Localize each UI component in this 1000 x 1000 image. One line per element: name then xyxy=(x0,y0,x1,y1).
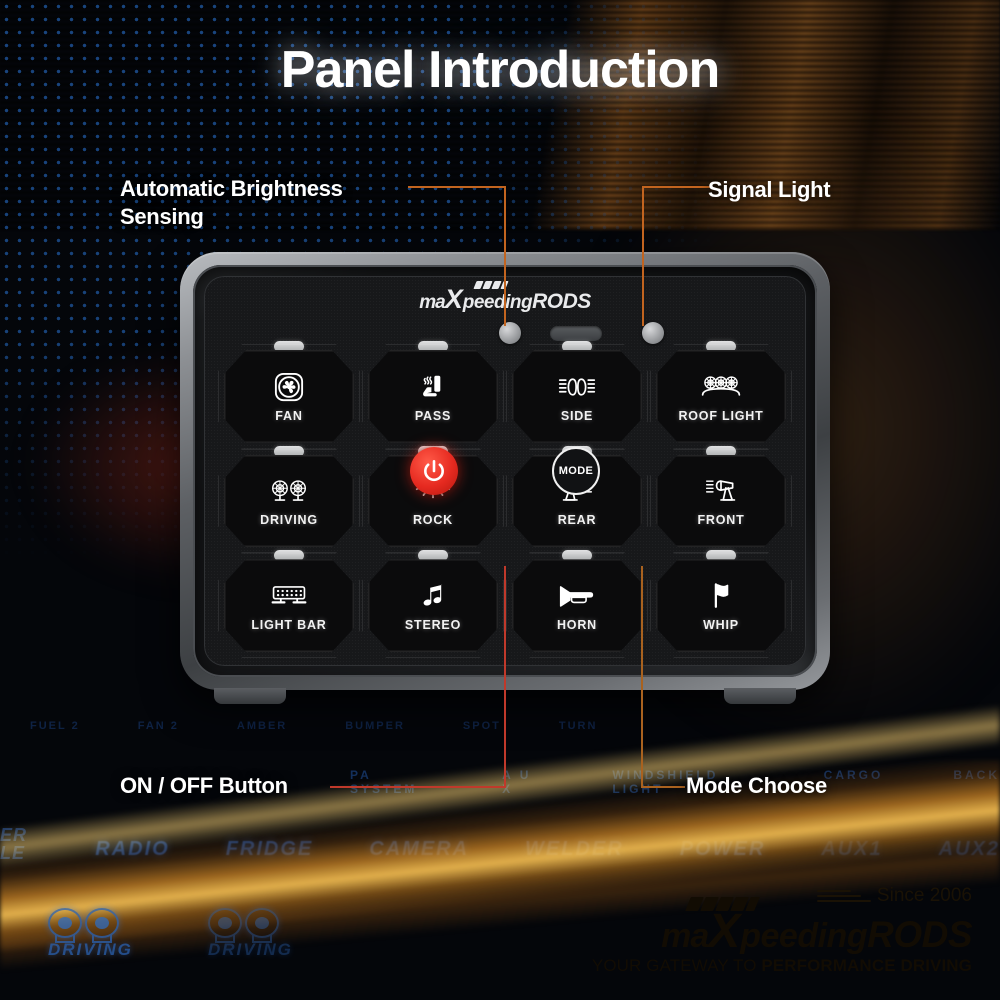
callout-brightness-sensing: Automatic Brightness Sensing xyxy=(120,175,420,231)
tagline-plain: YOUR GATEWAY TO xyxy=(592,956,761,975)
logo-part-peeding: peeding xyxy=(740,917,867,955)
switch-button-fan[interactable]: FAN xyxy=(224,350,354,443)
panel-mount-right xyxy=(724,688,796,704)
footer-brand: Since 2006 maXpeedingRODS YOUR GATEWAY T… xyxy=(592,885,972,976)
panel-mount-left xyxy=(214,688,286,704)
light-bar-icon xyxy=(269,579,309,613)
mode-button-label: MODE xyxy=(559,465,594,477)
footer-tagline: YOUR GATEWAY TO PERFORMANCE DRIVING xyxy=(592,956,972,976)
panel-cell: PASS xyxy=(368,350,498,443)
logo-part-rods: RODS xyxy=(867,914,972,955)
panel-cell: HORN xyxy=(512,559,642,652)
button-label: REAR xyxy=(558,513,597,527)
panel-cell: ROOF LIGHT xyxy=(656,350,786,443)
leader-line-signal xyxy=(640,186,710,326)
switch-button-front[interactable]: FRONT xyxy=(656,455,786,548)
callout-line: Automatic Brightness xyxy=(120,175,420,203)
button-label: FAN xyxy=(275,409,302,423)
background-driving-icon-2: DRIVING xyxy=(208,908,293,960)
button-label: WHIP xyxy=(703,618,739,632)
fan-icon xyxy=(274,370,304,404)
maxpeedingrods-logo-footer: maXpeedingRODS xyxy=(592,908,972,956)
panel-cell: FAN xyxy=(224,350,354,443)
leader-line-brightness xyxy=(408,186,508,326)
callout-line: Sensing xyxy=(120,203,420,231)
panel-cell: DRIVING xyxy=(224,455,354,548)
panel-cell: SIDE xyxy=(512,350,642,443)
background-word: DRIVING xyxy=(208,940,293,960)
since-text: Since 2006 xyxy=(877,885,972,907)
switch-button-pass[interactable]: PASS xyxy=(368,350,498,443)
background-driving-icon-1: DRIVING xyxy=(48,908,133,960)
mode-button[interactable]: MODE xyxy=(552,447,600,495)
background-word: DRIVING xyxy=(48,940,133,960)
since-badge: Since 2006 xyxy=(592,885,972,907)
power-button[interactable] xyxy=(410,447,458,495)
switch-button-horn[interactable]: HORN xyxy=(512,559,642,652)
roof-light-bar-icon xyxy=(700,370,742,404)
button-label: FRONT xyxy=(697,513,744,527)
horn-icon xyxy=(557,579,597,613)
button-label: HORN xyxy=(557,618,597,632)
button-label: ROCK xyxy=(413,513,453,527)
switch-button-roof-light[interactable]: ROOF LIGHT xyxy=(656,350,786,443)
logo-part-rods: RODS xyxy=(532,290,591,313)
ir-receiver xyxy=(550,326,602,341)
driving-lamps-icon xyxy=(48,908,133,938)
callout-mode-choose: Mode Choose xyxy=(686,772,827,800)
button-label: ROOF LIGHT xyxy=(678,409,763,423)
leader-line-mode xyxy=(641,566,685,788)
driving-lamps-icon xyxy=(270,474,308,508)
logo-part-x: X xyxy=(708,905,740,958)
button-label: DRIVING xyxy=(260,513,318,527)
button-label: SIDE xyxy=(561,409,593,423)
callout-on-off-button: ON / OFF Button xyxy=(120,772,288,800)
front-work-light-icon xyxy=(704,474,738,508)
button-label: PASS xyxy=(415,409,451,423)
whip-flag-icon xyxy=(707,579,735,613)
heated-seat-icon xyxy=(418,370,448,404)
page-title: Panel Introduction xyxy=(0,40,1000,100)
side-light-icon xyxy=(558,370,596,404)
power-icon xyxy=(421,458,447,484)
callout-signal-light: Signal Light xyxy=(708,176,830,204)
racing-flag-icon xyxy=(685,897,760,911)
since-speed-lines-icon xyxy=(817,890,871,903)
leader-line-onoff xyxy=(330,566,506,788)
panel-cell: FRONT xyxy=(656,455,786,548)
switch-button-side[interactable]: SIDE xyxy=(512,350,642,443)
switch-button-driving[interactable]: DRIVING xyxy=(224,455,354,548)
logo-part-ma: ma xyxy=(661,917,708,955)
driving-lamps-icon xyxy=(208,908,293,938)
button-label: LIGHT BAR xyxy=(251,618,326,632)
tagline-bold: PERFORMANCE DRIVING xyxy=(761,956,972,975)
